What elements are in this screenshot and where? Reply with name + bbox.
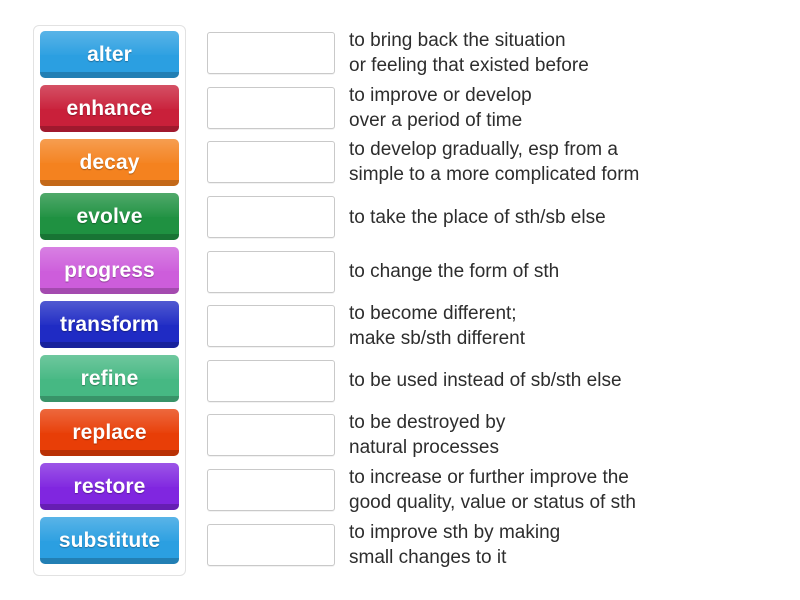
word-tile-substitute[interactable]: substitute: [40, 517, 179, 564]
word-tile-label: progress: [64, 260, 155, 281]
word-tile-label: restore: [74, 476, 146, 497]
definition-text: to be used instead of sb/sth else: [349, 368, 777, 393]
answer-row: to develop gradually, esp from a simple …: [207, 135, 777, 190]
word-tiles-panel: alterenhancedecayevolveprogresstransform…: [33, 25, 186, 576]
definition-text: to take the place of sth/sb else: [349, 205, 777, 230]
word-tile-label: evolve: [77, 206, 143, 227]
word-tile-replace[interactable]: replace: [40, 409, 179, 456]
definition-text: to increase or further improve the good …: [349, 465, 777, 515]
word-tile-progress[interactable]: progress: [40, 247, 179, 294]
match-up-activity: alterenhancedecayevolveprogresstransform…: [0, 0, 800, 600]
dropzone-9[interactable]: [207, 469, 335, 511]
word-tile-decay[interactable]: decay: [40, 139, 179, 186]
answer-row: to improve or develop over a period of t…: [207, 81, 777, 136]
answer-row: to increase or further improve the good …: [207, 463, 777, 518]
definition-text: to be destroyed by natural processes: [349, 410, 777, 460]
answer-row: to improve sth by making small changes t…: [207, 517, 777, 572]
dropzone-10[interactable]: [207, 524, 335, 566]
word-tile-enhance[interactable]: enhance: [40, 85, 179, 132]
dropzone-1[interactable]: [207, 32, 335, 74]
answer-row: to take the place of sth/sb else: [207, 190, 777, 245]
definition-text: to bring back the situation or feeling t…: [349, 28, 777, 78]
word-tile-evolve[interactable]: evolve: [40, 193, 179, 240]
dropzone-2[interactable]: [207, 87, 335, 129]
answer-row: to be destroyed by natural processes: [207, 408, 777, 463]
word-tile-restore[interactable]: restore: [40, 463, 179, 510]
word-tile-label: enhance: [67, 98, 153, 119]
answer-row: to be used instead of sb/sth else: [207, 354, 777, 409]
answer-row: to become different; make sb/sth differe…: [207, 299, 777, 354]
dropzone-3[interactable]: [207, 141, 335, 183]
word-tile-refine[interactable]: refine: [40, 355, 179, 402]
definition-text: to improve or develop over a period of t…: [349, 83, 777, 133]
answer-row: to change the form of sth: [207, 244, 777, 299]
word-tile-label: alter: [87, 44, 132, 65]
word-tile-label: replace: [72, 422, 146, 443]
dropzone-6[interactable]: [207, 305, 335, 347]
word-tile-label: transform: [60, 314, 159, 335]
dropzone-7[interactable]: [207, 360, 335, 402]
definition-text: to become different; make sb/sth differe…: [349, 301, 777, 351]
dropzone-4[interactable]: [207, 196, 335, 238]
dropzone-8[interactable]: [207, 414, 335, 456]
answer-row: to bring back the situation or feeling t…: [207, 26, 777, 81]
word-tile-label: refine: [81, 368, 139, 389]
definition-text: to improve sth by making small changes t…: [349, 520, 777, 570]
definition-text: to develop gradually, esp from a simple …: [349, 137, 777, 187]
answer-rows: to bring back the situation or feeling t…: [207, 26, 777, 572]
dropzone-5[interactable]: [207, 251, 335, 293]
word-tile-alter[interactable]: alter: [40, 31, 179, 78]
word-tile-label: decay: [79, 152, 139, 173]
word-tile-label: substitute: [59, 530, 160, 551]
word-tile-transform[interactable]: transform: [40, 301, 179, 348]
definition-text: to change the form of sth: [349, 259, 777, 284]
